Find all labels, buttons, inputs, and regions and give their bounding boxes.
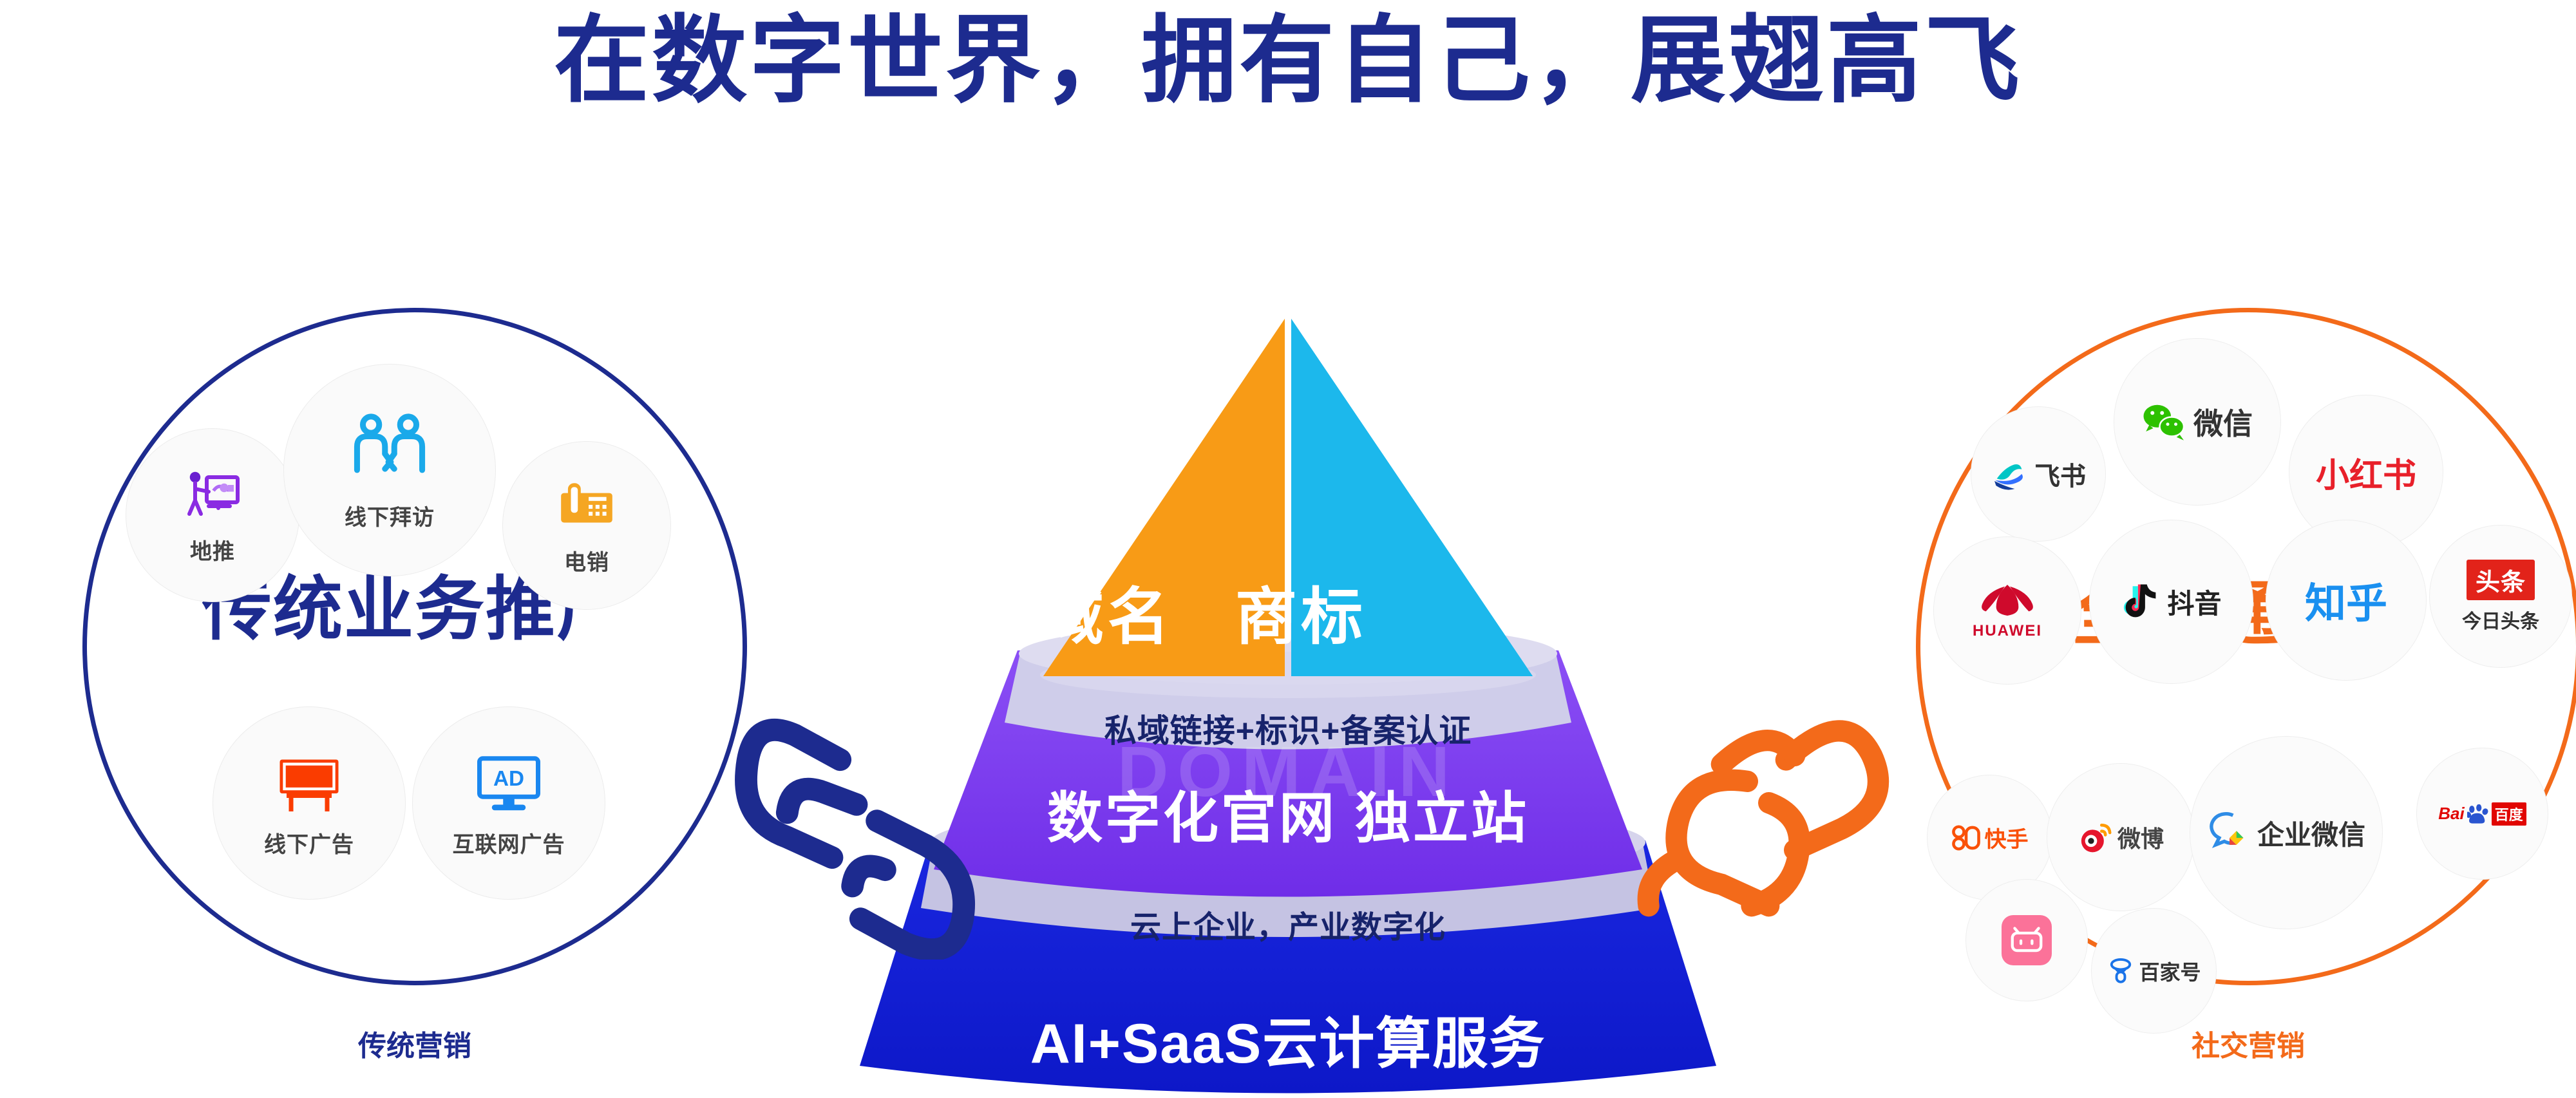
handshake-people-icon [348,410,431,493]
bubble-hulianwang-guanggao[interactable]: AD 互联网广告 [412,706,605,900]
logo-bubble-toutiao[interactable]: 头条 今日头条 [2429,525,2572,668]
baidu-icon [2467,804,2489,824]
xiaohongshu-wordmark: 小红书 [2316,448,2416,497]
logo-bubble-weibo[interactable]: 微博 [2047,763,2195,911]
logo-bubble-baijiahao[interactable]: 百家号 [2091,908,2217,1034]
bubble-label: 电销 [564,545,609,576]
right-footer-caption: 社交营销 [1916,1023,2576,1064]
logo-bubble-feishu[interactable]: 飞书 [1971,406,2106,542]
logo-label: 微博 [2117,820,2164,854]
bubble-label: 线下拜访 [345,500,435,531]
baijiahao-icon [2107,957,2135,985]
douyin-icon [2121,581,2161,623]
logo-label: 企业微信 [2257,813,2365,853]
toutiao-badge: 头条 [2467,560,2535,600]
logo-bubble-zhihu[interactable]: 知乎 [2266,520,2427,681]
bubble-label: 互联网广告 [453,827,565,858]
page-title: 在数字世界，拥有自己，展翅高飞 [0,1,2576,120]
left-footer-caption: 传统营销 [82,1023,747,1064]
bubble-ditui[interactable]: 地推 [126,428,299,602]
logo-bubble-wecom[interactable]: 企业微信 [2190,736,2383,929]
bubble-xianxia-guanggao[interactable]: 线下广告 [213,706,406,900]
baidu-prefix: Bai [2438,804,2464,824]
ad-monitor-icon: AD [473,748,545,820]
logo-label: 今日头条 [2462,605,2539,634]
logo-label: HUAWEI [1973,622,2042,640]
feishu-icon [1991,455,2028,493]
logo-bubble-huawei[interactable]: HUAWEI [1933,536,2081,685]
presenter-board-icon [182,466,243,527]
poster-canvas: 在数字世界，拥有自己，展翅高飞 传统业务推广 地推 [0,0,2576,1095]
logo-label: 快手 [1985,822,2029,853]
wechat-icon [2142,402,2187,442]
bilibili-icon [2002,915,2052,965]
kuaishou-icon [1951,825,1981,851]
billboard-icon [273,748,345,820]
logo-bubble-bilibili[interactable] [1965,879,2088,1001]
pyramid-middle-label: 数字化官网 独立站 [921,773,1655,853]
logo-bubble-wechat[interactable]: 微信 [2114,338,2281,506]
traditional-marketing-circle: 传统业务推广 地推 [82,308,747,985]
pyramid-base-label: AI+SaaS云计算服务 [837,998,1739,1079]
logo-label: 抖音 [2167,582,2221,621]
social-marketing-circle: 全球通用户 飞书 [1916,308,2576,985]
wecom-icon [2207,810,2252,855]
bubble-label: 地推 [190,534,235,565]
pyramid-apex-trademark-label: 商标 [1211,567,1391,656]
weibo-icon [2078,821,2114,853]
desk-phone-icon [555,475,618,538]
zhihu-wordmark: 知乎 [2305,571,2387,630]
logo-label: 百度 [2492,802,2526,826]
logo-label: 飞书 [2034,455,2086,493]
bubble-xianxia-baifang[interactable]: 线下拜访 [283,364,496,576]
pyramid-apex-domain-label: 域名 [1024,567,1191,656]
bubble-dianxiao[interactable]: 电销 [502,441,671,610]
logo-label: 微信 [2193,401,2253,443]
logo-bubble-douyin[interactable]: 抖音 [2089,520,2253,684]
logo-bubble-baidu[interactable]: Bai 百度 [2416,748,2548,880]
huawei-icon [1976,581,2038,620]
chain-link-icon-left [734,715,979,960]
logo-label: 百家号 [2139,956,2201,986]
pyramid-diagram [741,290,1835,1095]
bubble-label: 线下广告 [264,827,354,858]
svg-text:AD: AD [493,766,524,790]
pyramid-lower-band-label: 云上企业，产业数字化 [921,902,1655,947]
pyramid-upper-band-label: 私域链接+标识+备案认证 [966,705,1610,752]
chain-link-icon-right [1636,708,1893,966]
